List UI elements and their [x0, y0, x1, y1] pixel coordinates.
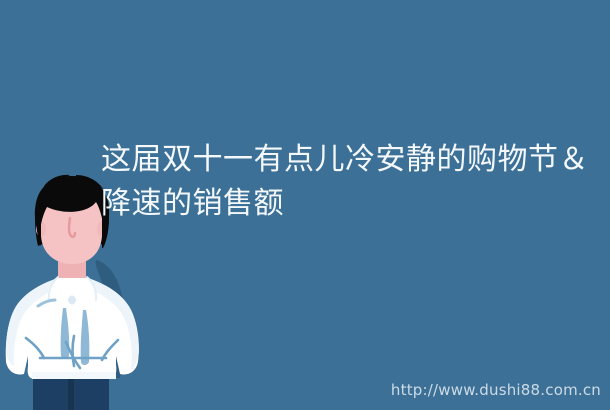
hoodie-hem	[32, 372, 116, 379]
image-canvas: 这届双十一有点儿冷安静的购物节＆降速的销售额 http://www.dushi8…	[0, 0, 610, 410]
page-title: 这届双十一有点儿冷安静的购物节＆降速的销售额	[101, 138, 593, 226]
collar-knot	[68, 296, 76, 305]
watermark-url: http://www.dushi88.com.cn	[391, 381, 601, 399]
